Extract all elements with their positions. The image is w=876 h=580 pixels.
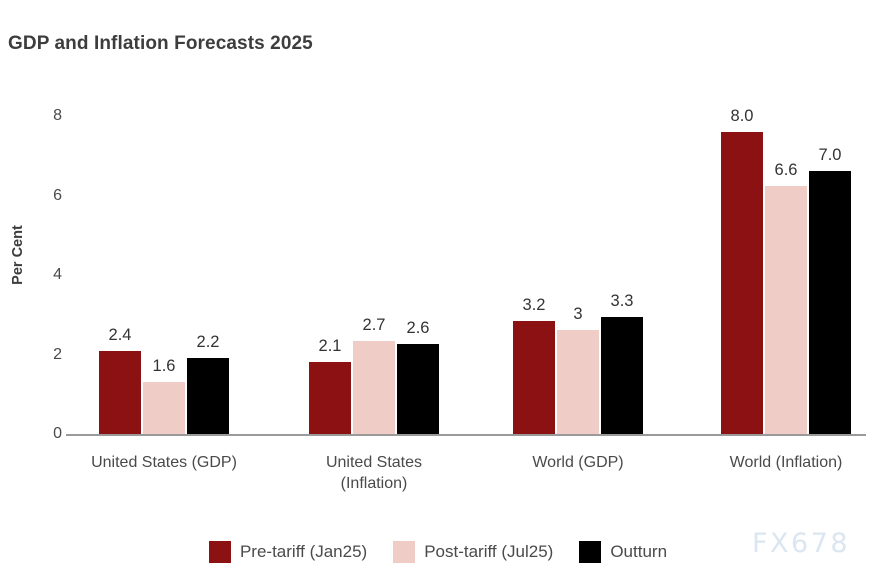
bar-value-label: 7.0: [819, 146, 842, 165]
x-axis-group-label: World (Inflation): [730, 452, 843, 473]
x-axis-group-label: United States (GDP): [91, 452, 237, 473]
legend-label: Outturn: [610, 542, 667, 562]
bar[interactable]: [309, 362, 351, 434]
bar-value-label: 2.1: [319, 337, 342, 356]
y-tick-label: 2: [16, 346, 62, 364]
bar-value-label: 2.4: [109, 326, 132, 345]
y-axis-ticks: 02468: [0, 0, 62, 580]
bar-value-label: 3.3: [611, 292, 634, 311]
bar[interactable]: [513, 321, 555, 434]
legend-item[interactable]: Post-tariff (Jul25): [393, 541, 553, 563]
plot-area: 2.41.62.22.12.72.63.233.38.06.67.0: [66, 110, 866, 434]
y-tick-label: 0: [16, 425, 62, 443]
bar[interactable]: [809, 171, 851, 434]
bar-value-label: 1.6: [153, 357, 176, 376]
bar[interactable]: [601, 317, 643, 434]
bar[interactable]: [187, 358, 229, 434]
legend-label: Post-tariff (Jul25): [424, 542, 553, 562]
bar-value-label: 2.2: [197, 333, 220, 352]
legend-item[interactable]: Outturn: [579, 541, 667, 563]
bar[interactable]: [99, 351, 141, 434]
legend-label: Pre-tariff (Jan25): [240, 542, 367, 562]
legend-swatch-icon: [579, 541, 601, 563]
bar-value-label: 3.2: [523, 296, 546, 315]
legend-item[interactable]: Pre-tariff (Jan25): [209, 541, 367, 563]
bar[interactable]: [397, 344, 439, 434]
bar[interactable]: [143, 382, 185, 434]
bar[interactable]: [557, 330, 599, 434]
chart-legend: Pre-tariff (Jan25)Post-tariff (Jul25)Out…: [0, 541, 876, 563]
y-tick-label: 4: [16, 266, 62, 284]
legend-swatch-icon: [209, 541, 231, 563]
x-axis-group-label: United States (Inflation): [299, 452, 449, 494]
bar-chart: GDP and Inflation Forecasts 2025 Per Cen…: [0, 0, 876, 580]
bar[interactable]: [353, 341, 395, 434]
bar-value-label: 3: [573, 305, 582, 324]
y-tick-label: 8: [16, 107, 62, 125]
x-axis-line: [66, 434, 866, 436]
x-axis-group-label: World (GDP): [532, 452, 623, 473]
bar-value-label: 8.0: [731, 107, 754, 126]
legend-swatch-icon: [393, 541, 415, 563]
bar-value-label: 6.6: [775, 161, 798, 180]
bar[interactable]: [721, 132, 763, 434]
bar-value-label: 2.6: [407, 319, 430, 338]
bar[interactable]: [765, 186, 807, 434]
bar-value-label: 2.7: [363, 316, 386, 335]
y-tick-label: 6: [16, 187, 62, 205]
